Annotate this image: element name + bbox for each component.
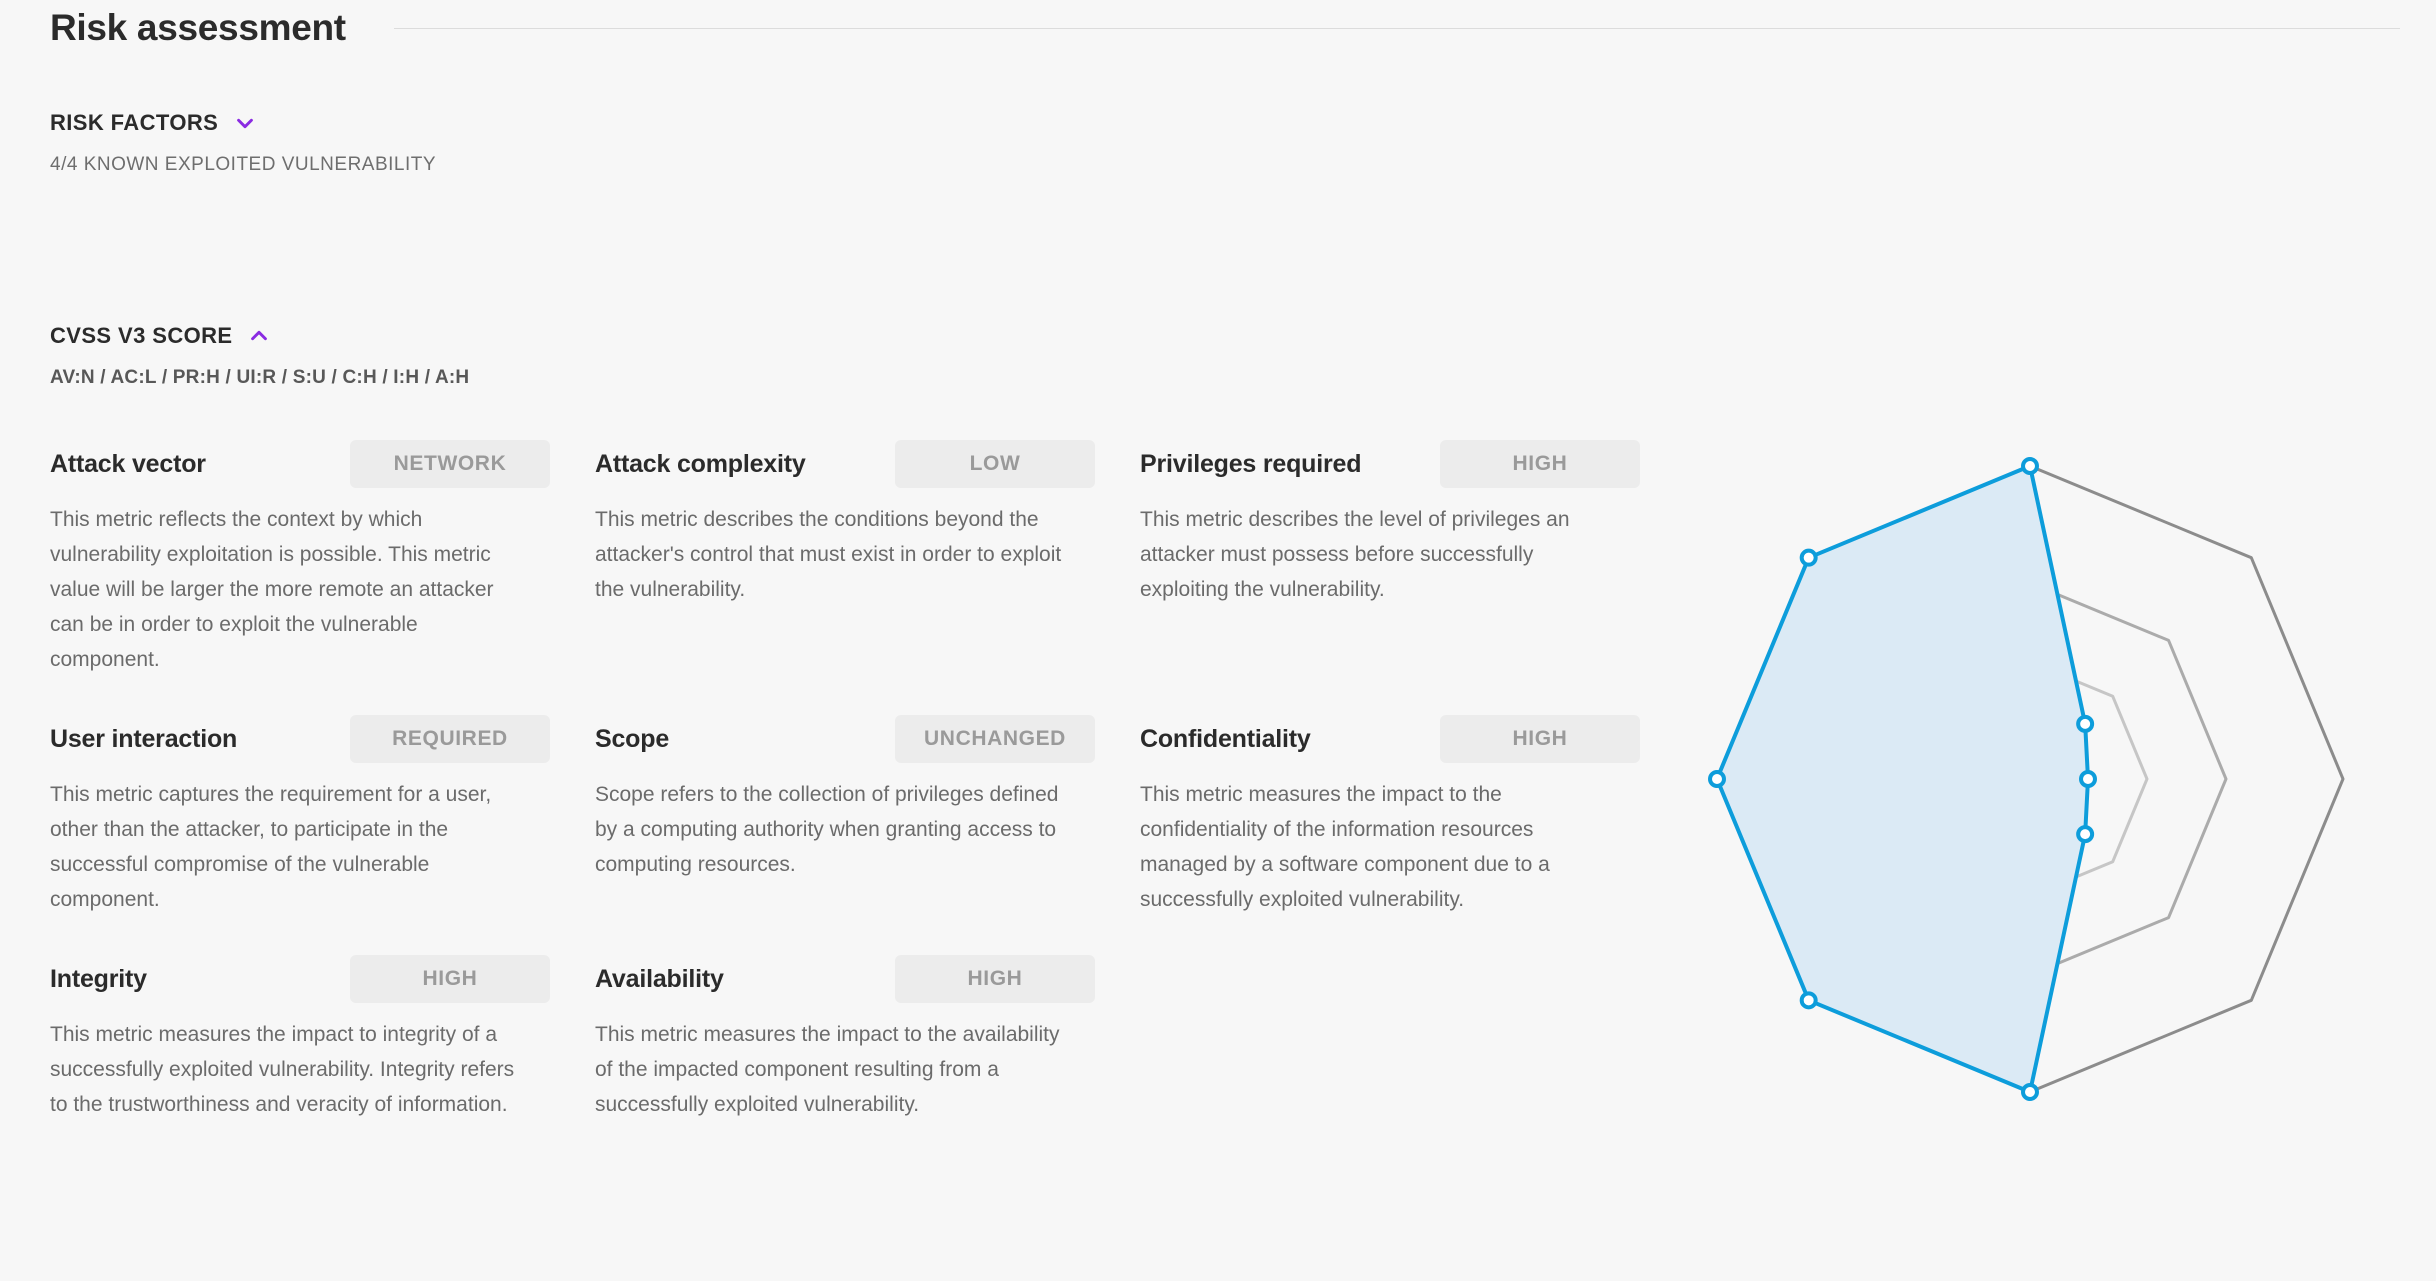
metric-label: Integrity: [50, 965, 147, 994]
metric-label: Attack vector: [50, 450, 206, 479]
metric-header: User interaction REQUIRED: [50, 715, 550, 763]
metric-card-attack-complexity: Attack complexity LOW This metric descri…: [595, 440, 1095, 677]
metric-header: Privileges required HIGH: [1140, 440, 1640, 488]
page-title: Risk assessment: [50, 7, 346, 49]
metric-value-badge: LOW: [895, 440, 1095, 488]
metric-card-confidentiality: Confidentiality HIGH This metric measure…: [1140, 715, 1640, 917]
radar-data-point[interactable]: [2023, 459, 2037, 473]
radar-data-point[interactable]: [2081, 772, 2095, 786]
risk-factors-summary: 4/4 KNOWN EXPLOITED VULNERABILITY: [50, 154, 436, 176]
cvss-title: CVSS v3 SCORE: [50, 323, 232, 349]
metric-card-availability: Availability HIGH This metric measures t…: [595, 955, 1095, 1122]
metric-description: This metric reflects the context by whic…: [50, 502, 520, 677]
metric-value-badge: NETWORK: [350, 440, 550, 488]
metric-card-scope: Scope UNCHANGED Scope refers to the coll…: [595, 715, 1095, 917]
metric-description: This metric captures the requirement for…: [50, 777, 520, 917]
metric-value-badge: HIGH: [1440, 715, 1640, 763]
metric-header: Attack complexity LOW: [595, 440, 1095, 488]
chevron-up-icon[interactable]: [248, 325, 270, 347]
metric-card-attack-vector: Attack vector NETWORK This metric reflec…: [50, 440, 550, 677]
metric-card-integrity: Integrity HIGH This metric measures the …: [50, 955, 550, 1122]
cvss-metric-grid: Attack vector NETWORK This metric reflec…: [50, 440, 1650, 1122]
cvss-section: CVSS v3 SCORE AV:N / AC:L / PR:H / UI:R …: [50, 323, 469, 389]
metric-header: Integrity HIGH: [50, 955, 550, 1003]
metric-card-privileges-required: Privileges required HIGH This metric des…: [1140, 440, 1640, 677]
metric-label: Privileges required: [1140, 450, 1361, 479]
risk-factors-title: RISK FACTORS: [50, 110, 218, 136]
metric-value-badge: REQUIRED: [350, 715, 550, 763]
metric-label: Scope: [595, 725, 669, 754]
radar-data-point[interactable]: [2078, 827, 2092, 841]
metric-label: User interaction: [50, 725, 237, 754]
metric-label: Availability: [595, 965, 724, 994]
cvss-radar-chart: [1660, 410, 2400, 1150]
risk-factors-section: RISK FACTORS 4/4 KNOWN EXPLOITED VULNERA…: [50, 110, 436, 176]
metric-description: This metric measures the impact to the c…: [1140, 777, 1610, 917]
radar-data-point[interactable]: [1802, 993, 1816, 1007]
metric-value-badge: HIGH: [350, 955, 550, 1003]
metric-header: Attack vector NETWORK: [50, 440, 550, 488]
radar-svg: [1660, 410, 2400, 1150]
metric-description: This metric measures the impact to the a…: [595, 1017, 1065, 1122]
radar-data-point[interactable]: [1710, 772, 1724, 786]
cvss-vector-string: AV:N / AC:L / PR:H / UI:R / S:U / C:H / …: [50, 367, 469, 389]
metric-label: Confidentiality: [1140, 725, 1311, 754]
metric-value-badge: UNCHANGED: [895, 715, 1095, 763]
radar-data-point[interactable]: [2078, 717, 2092, 731]
chevron-down-icon[interactable]: [234, 112, 256, 134]
metric-header: Availability HIGH: [595, 955, 1095, 1003]
radar-data-point[interactable]: [1802, 551, 1816, 565]
metric-header: Scope UNCHANGED: [595, 715, 1095, 763]
metric-card-user-interaction: User interaction REQUIRED This metric ca…: [50, 715, 550, 917]
page-header: Risk assessment: [0, 0, 2436, 56]
metric-description: Scope refers to the collection of privil…: [595, 777, 1065, 882]
metric-description: This metric describes the conditions bey…: [595, 502, 1065, 607]
metric-description: This metric describes the level of privi…: [1140, 502, 1610, 607]
risk-assessment-page: Risk assessment RISK FACTORS 4/4 KNOWN E…: [0, 0, 2436, 1281]
metric-description: This metric measures the impact to integ…: [50, 1017, 520, 1122]
cvss-header[interactable]: CVSS v3 SCORE: [50, 323, 469, 349]
risk-factors-header[interactable]: RISK FACTORS: [50, 110, 436, 136]
metric-header: Confidentiality HIGH: [1140, 715, 1640, 763]
header-divider: [394, 28, 2400, 29]
radar-series-area: [1717, 466, 2088, 1092]
metric-value-badge: HIGH: [895, 955, 1095, 1003]
metric-label: Attack complexity: [595, 450, 806, 479]
radar-data-point[interactable]: [2023, 1085, 2037, 1099]
metric-value-badge: HIGH: [1440, 440, 1640, 488]
